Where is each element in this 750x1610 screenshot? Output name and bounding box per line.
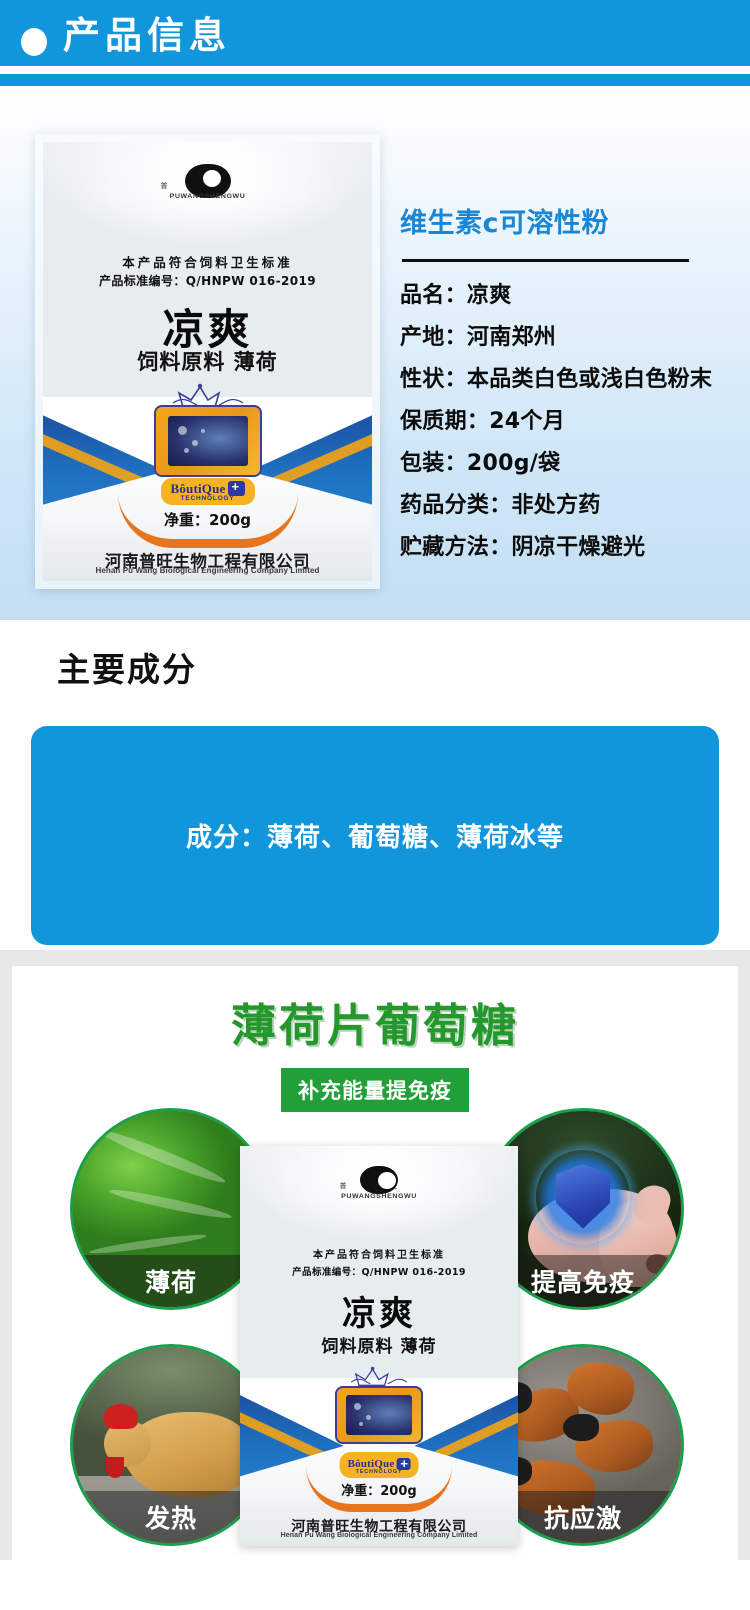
ingredients-text: 成分：薄荷、葡萄糖、薄荷冰等 <box>31 726 719 945</box>
package-product-sub: 饲料原料 薄荷 <box>240 1332 518 1357</box>
spec-row: 包装：200g/袋 <box>400 447 730 480</box>
package-product-sub: 饲料原料 薄荷 <box>43 346 372 376</box>
banner-badge: 补充能量提免疫 <box>281 1068 469 1112</box>
package-standard-line: 本产品符合饲料卫生标准 <box>240 1246 518 1261</box>
brand-logo: 普 旺 PUWANGSHENGWU <box>240 1166 518 1200</box>
product-spec-list: 维生素c可溶性粉 品名：凉爽 产地：河南郑州 性状：本品类白色或浅白色粉末 保质… <box>400 201 730 573</box>
page-title: 产品信息 <box>63 14 231 58</box>
spec-divider <box>402 259 689 262</box>
medallion-window <box>346 1395 412 1435</box>
package-medallion <box>335 1386 423 1444</box>
package-standard-code: 产品标准编号：Q/HNPW 016-2019 <box>240 1264 518 1278</box>
product-detail-page: 产品信息 普 旺 PUWANGSHENGWU 本产品符合饲料卫生标准 产品标准编… <box>0 0 750 1610</box>
spec-row: 贮藏方法：阴凉干燥避光 <box>400 531 730 564</box>
brand-logo-icon <box>360 1166 398 1194</box>
medallion-window <box>168 416 248 466</box>
spec-row: 药品分类：非处方药 <box>400 489 730 522</box>
ingredients-heading: 主要成分 <box>57 643 197 691</box>
banner-package-artwork: 普 旺 PUWANGSHENGWU 本产品符合饲料卫生标准 产品标准编号：Q/H… <box>240 1146 518 1546</box>
package-company-en: Henan Pu Wang Biological Engineering Com… <box>43 566 372 575</box>
package-net-weight: 净重：200g <box>240 1480 518 1499</box>
package-medallion <box>154 405 262 477</box>
package-product-name: 凉爽 <box>240 1286 518 1335</box>
dot-icon <box>21 28 47 56</box>
brand-logo-en: PUWANGSHENGWU <box>43 193 372 199</box>
spec-row: 性状：本品类白色或浅白色粉末 <box>400 363 730 396</box>
package-net-weight: 净重：200g <box>43 509 372 530</box>
package-artwork: 普 旺 PUWANGSHENGWU 本产品符合饲料卫生标准 产品标准编号：Q/H… <box>43 142 372 581</box>
header-divider <box>0 74 750 86</box>
banner-package-image: 普 旺 PUWANGSHENGWU 本产品符合饲料卫生标准 产品标准编号：Q/H… <box>240 1146 518 1546</box>
product-hero-section: 普 旺 PUWANGSHENGWU 本产品符合饲料卫生标准 产品标准编号：Q/H… <box>0 86 750 620</box>
package-standard-code: 产品标准编号：Q/HNPW 016-2019 <box>43 272 372 289</box>
package-standard-line: 本产品符合饲料卫生标准 <box>43 252 372 271</box>
product-package-image: 普 旺 PUWANGSHENGWU 本产品符合饲料卫生标准 产品标准编号：Q/H… <box>35 134 380 589</box>
page-header: 产品信息 <box>0 0 750 66</box>
brand-logo: 普 旺 PUWANGSHENGWU <box>43 164 372 200</box>
spec-row: 品名：凉爽 <box>400 279 730 312</box>
ingredients-card: 成分：薄荷、葡萄糖、薄荷冰等 <box>31 726 719 945</box>
banner-title: 薄荷片葡萄糖 <box>12 989 738 1054</box>
spec-row: 保质期：24个月 <box>400 405 730 438</box>
package-company-en: Henan Pu Wang Biological Engineering Com… <box>240 1532 518 1539</box>
brand-logo-en: PUWANGSHENGWU <box>240 1194 518 1200</box>
spec-row: 产地：河南郑州 <box>400 321 730 354</box>
product-title: 维生素c可溶性粉 <box>400 201 730 240</box>
crown-icon <box>351 1366 407 1387</box>
benefits-banner: 薄荷片葡萄糖 补充能量提免疫 薄荷 提高免疫 <box>12 966 738 1560</box>
